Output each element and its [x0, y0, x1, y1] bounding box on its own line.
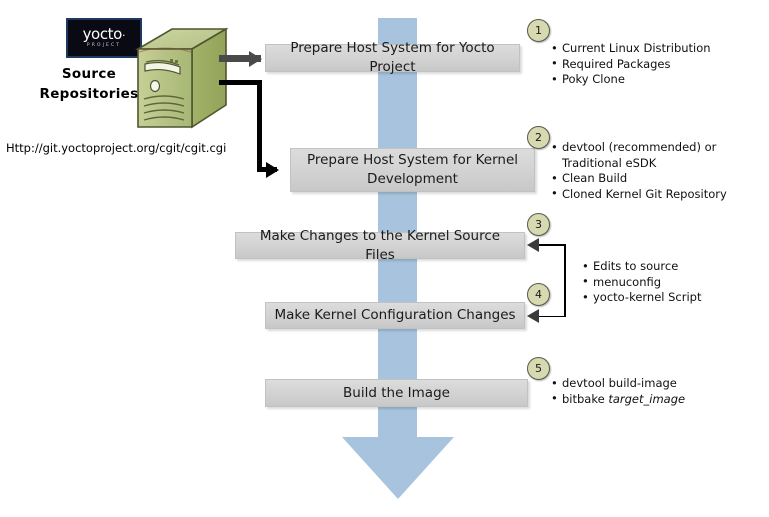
step-1-number: 1 — [535, 24, 542, 37]
step-5-bullet-list: devtool build-image bitbake target_image — [551, 376, 685, 407]
bracket-bottom-arrowhead — [527, 309, 539, 323]
connector-server-to-step2-vertical — [257, 80, 262, 172]
diagram-canvas: yocto · PROJECT Source Repositories Http… — [0, 0, 769, 517]
step-2-bullet: Cloned Kernel Git Repository — [551, 187, 727, 203]
step-1-bullet-list: Current Linux Distribution Required Pack… — [551, 41, 711, 88]
server-tower-icon — [132, 27, 228, 143]
step-5-bullet-italic-target: target_image — [608, 392, 685, 406]
step-4-number: 4 — [535, 288, 542, 301]
step-1-bullet: Required Packages — [551, 57, 711, 73]
steps-3-4-bullet: menuconfig — [582, 275, 702, 291]
step-2-number: 2 — [535, 131, 542, 144]
step-3-box[interactable]: Make Changes to the Kernel Source Files — [235, 232, 525, 259]
step-5-number-badge: 5 — [527, 357, 550, 380]
steps-3-4-bullet: yocto-kernel Script — [582, 290, 702, 306]
step-4-number-badge: 4 — [527, 283, 550, 306]
steps-3-4-bullet-list: Edits to source menuconfig yocto-kernel … — [582, 259, 702, 306]
step-3-number: 3 — [535, 218, 542, 231]
yocto-project-logo: yocto · PROJECT — [66, 18, 142, 58]
step-5-bullet: devtool build-image — [551, 376, 685, 392]
bracket-top-arrowhead — [527, 238, 539, 252]
step-2-bullet: devtool (recommended) or — [551, 140, 727, 156]
step-2-number-badge: 2 — [527, 126, 550, 149]
step-1-box-label: Prepare Host System for Yocto Project — [274, 39, 511, 77]
step-4-box-label: Make Kernel Configuration Changes — [274, 306, 515, 325]
steps-3-4-bullet: Edits to source — [582, 259, 702, 275]
step-2-box[interactable]: Prepare Host System for Kernel Developme… — [290, 148, 535, 192]
step-1-box[interactable]: Prepare Host System for Yocto Project — [265, 44, 520, 72]
connector-server-to-step1-arrowhead — [249, 51, 262, 67]
connector-server-to-step2-arrowhead — [266, 162, 279, 178]
step-5-bullet-prefix: bitbake — [562, 392, 608, 406]
step-5-box-label: Build the Image — [343, 384, 450, 403]
step-4-box[interactable]: Make Kernel Configuration Changes — [265, 302, 525, 329]
main-flow-arrow-head — [342, 437, 454, 499]
connector-server-to-step2-horizontal-top — [219, 80, 262, 85]
step-5-box[interactable]: Build the Image — [265, 379, 528, 407]
logo-dot: · — [122, 30, 126, 41]
step-5-number: 5 — [535, 362, 542, 375]
step-1-number-badge: 1 — [527, 19, 550, 42]
logo-subtitle: PROJECT — [87, 44, 121, 49]
step-2-bullet: Clean Build — [551, 171, 727, 187]
step-3-number-badge: 3 — [527, 213, 550, 236]
source-repository-url: Http://git.yoctoproject.org/cgit/cgit.cg… — [6, 141, 226, 155]
step-3-box-label: Make Changes to the Kernel Source Files — [244, 227, 516, 265]
step-2-box-label: Prepare Host System for Kernel Developme… — [299, 151, 526, 189]
step-1-bullet: Poky Clone — [551, 72, 711, 88]
bracket-vertical-line — [564, 244, 566, 317]
logo-wordmark: yocto — [83, 27, 122, 42]
step-2-bullet-continuation: Traditional eSDK — [551, 156, 727, 172]
step-5-bullet: bitbake target_image — [551, 392, 685, 408]
step-2-bullet-list: devtool (recommended) or Traditional eSD… — [551, 140, 727, 202]
step-1-bullet: Current Linux Distribution — [551, 41, 711, 57]
